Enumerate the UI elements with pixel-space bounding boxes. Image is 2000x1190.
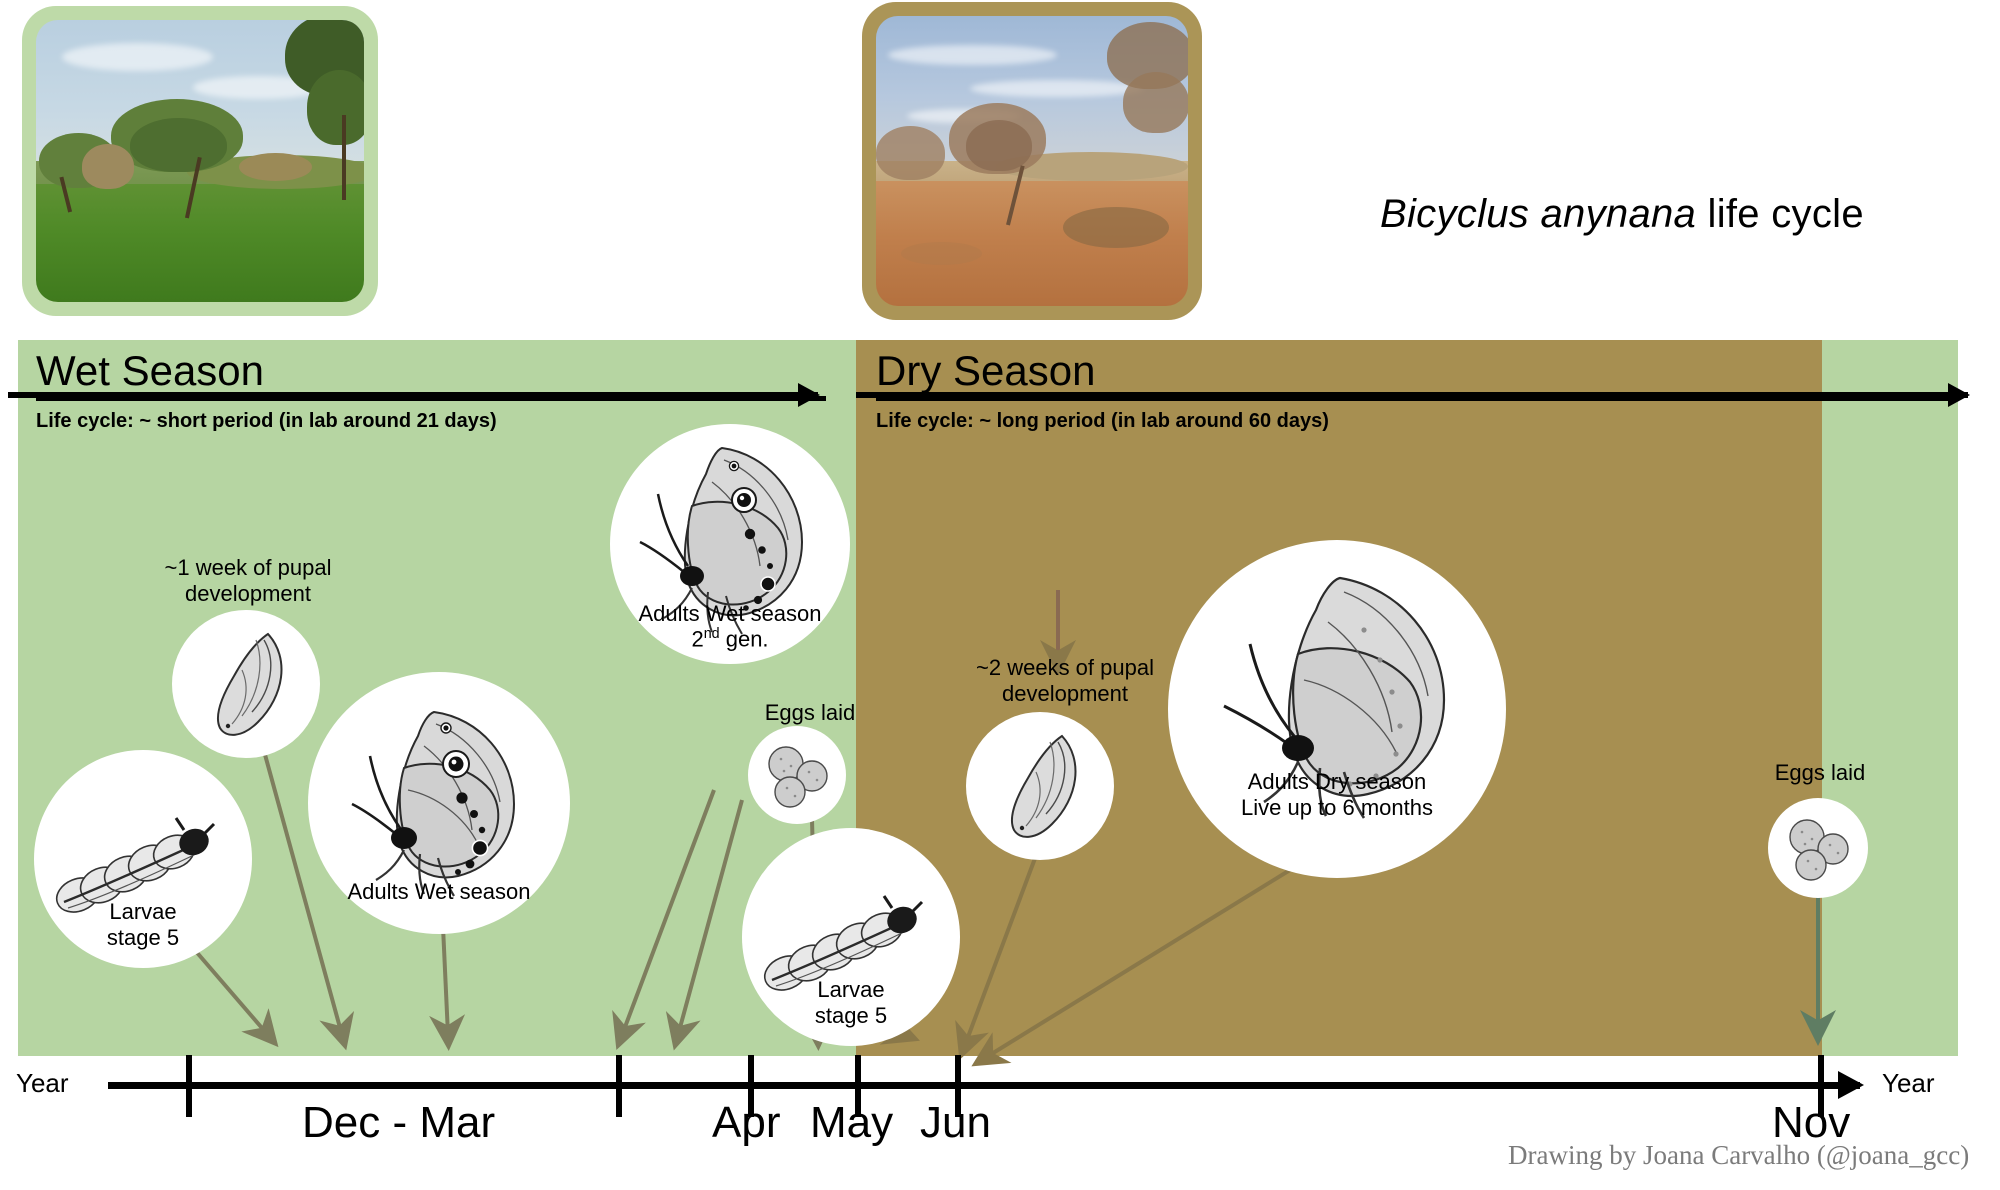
axis-tick bbox=[616, 1055, 622, 1117]
butterfly-icon bbox=[1168, 540, 1506, 878]
wet-season-arrow bbox=[8, 392, 818, 398]
axis-tick bbox=[186, 1055, 192, 1117]
timeline-axis bbox=[108, 1082, 1860, 1089]
pupa-icon bbox=[966, 712, 1114, 860]
dry-season-title: Dry Season bbox=[876, 350, 1948, 392]
wet-season-title: Wet Season bbox=[36, 350, 826, 392]
eggs-laid-wet-label: Eggs laid bbox=[720, 700, 900, 726]
stage-adult-wet-2: Adults Wet season 2nd gen. bbox=[610, 424, 850, 664]
dry-season-arrow bbox=[856, 392, 1968, 398]
month-label-apr: Apr bbox=[712, 1098, 780, 1148]
eggs-icon bbox=[748, 726, 846, 824]
gen-word: gen. bbox=[726, 627, 769, 652]
stage-eggs-wet bbox=[748, 726, 846, 824]
species-name: Bicyclus anynana bbox=[1380, 192, 1696, 236]
stage-pupa-dry bbox=[966, 712, 1114, 860]
eggs-icon bbox=[1768, 798, 1868, 898]
stage-caption: Adults Wet season bbox=[308, 879, 570, 904]
stage-larvae-1: Larvae stage 5 bbox=[34, 750, 252, 968]
page-title: Bicyclus anynana life cycle bbox=[1380, 192, 1864, 237]
stage-caption: Adults Dry season Live up to 6 months bbox=[1168, 769, 1506, 820]
pupal-development-wet-label: ~1 week of pupal development bbox=[118, 555, 378, 608]
month-label-dec-mar: Dec - Mar bbox=[302, 1098, 495, 1148]
month-label-may: May bbox=[810, 1098, 893, 1148]
dry-season-habitat-photo bbox=[862, 2, 1202, 320]
axis-label-left: Year bbox=[16, 1068, 69, 1099]
stage-adult-dry: Adults Dry season Live up to 6 months bbox=[1168, 540, 1506, 878]
eggs-laid-dry-label: Eggs laid bbox=[1730, 760, 1910, 786]
stage-caption: Adults Wet season 2nd gen. bbox=[610, 601, 850, 652]
stage-eggs-dry bbox=[1768, 798, 1868, 898]
axis-label-right: Year bbox=[1882, 1068, 1935, 1099]
wet-season-habitat-photo bbox=[22, 6, 378, 316]
month-label-jun: Jun bbox=[920, 1098, 991, 1148]
title-rest: life cycle bbox=[1696, 192, 1864, 236]
drawing-credit: Drawing by Joana Carvalho (@joana_gcc) bbox=[1508, 1140, 1969, 1171]
stage-caption: Larvae stage 5 bbox=[34, 899, 252, 950]
gen-suffix: nd bbox=[704, 626, 720, 642]
dry-season-subtitle: Life cycle: ~ long period (in lab around… bbox=[876, 410, 1948, 433]
pupal-development-dry-label: ~2 weeks of pupal development bbox=[935, 655, 1195, 708]
wet-season-band-next-year bbox=[1822, 340, 1958, 1056]
stage-pupa-wet bbox=[172, 610, 320, 758]
stage-adult-wet-1: Adults Wet season bbox=[308, 672, 570, 934]
stage-caption: Larvae stage 5 bbox=[742, 977, 960, 1028]
pupa-icon bbox=[172, 610, 320, 758]
gen-number: 2 bbox=[691, 627, 703, 652]
stage-larvae-2: Larvae stage 5 bbox=[742, 828, 960, 1046]
